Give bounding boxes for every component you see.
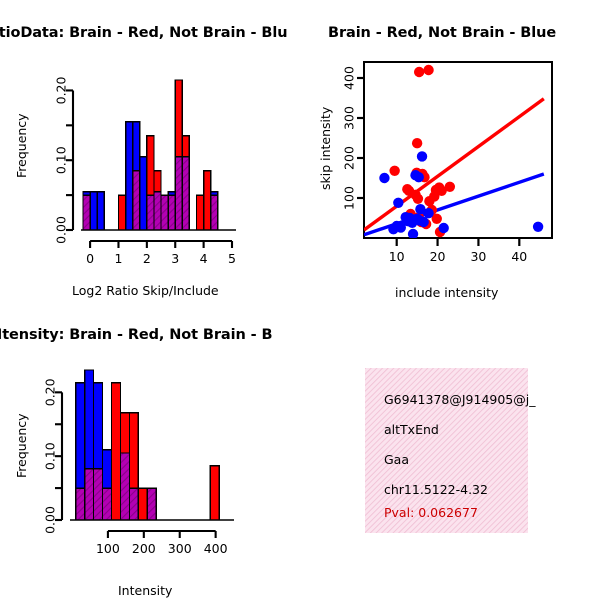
svg-text:3: 3 xyxy=(171,251,179,266)
svg-text:300: 300 xyxy=(341,106,356,130)
infobox-line-event-type: altTxEnd xyxy=(384,422,439,437)
svg-text:10: 10 xyxy=(389,249,405,264)
svg-text:0: 0 xyxy=(86,251,94,266)
svg-text:5: 5 xyxy=(228,251,236,266)
svg-text:20: 20 xyxy=(430,249,446,264)
svg-text:2: 2 xyxy=(143,251,151,266)
svg-text:1: 1 xyxy=(114,251,122,266)
svg-text:30: 30 xyxy=(470,249,486,264)
panel-intensity-histogram: ne Itensity: Brain - Red, Not Brain - B … xyxy=(0,300,300,600)
svg-text:200: 200 xyxy=(341,146,356,170)
svg-text:40: 40 xyxy=(511,249,527,264)
svg-text:0.00: 0.00 xyxy=(53,216,68,244)
scatter-plot: 10020030040010203040 xyxy=(300,0,600,300)
svg-text:0.20: 0.20 xyxy=(42,378,57,406)
svg-text:300: 300 xyxy=(168,541,192,556)
panel-scatter: Brain - Red, Not Brain - Blue skip inten… xyxy=(300,0,600,300)
ratio-histogram-plot: 0.000.100.20012345 xyxy=(0,0,300,300)
infobox-line-pvalue: Pval: 0.062677 xyxy=(384,505,478,520)
svg-text:0.20: 0.20 xyxy=(53,76,68,104)
infobox-line-gene-symbol: Gaa xyxy=(384,452,409,467)
infobox-line-gene-id: G6941378@J914905@j_ xyxy=(384,392,535,407)
svg-text:400: 400 xyxy=(204,541,228,556)
svg-text:400: 400 xyxy=(341,66,356,90)
svg-text:0.10: 0.10 xyxy=(42,442,57,470)
svg-text:100: 100 xyxy=(96,541,120,556)
intensity-histogram-plot: 0.000.100.20100200300400 xyxy=(0,300,300,600)
panel-infobox: G6941378@J914905@j_ altTxEnd Gaa chr11.5… xyxy=(300,300,600,600)
svg-text:0.10: 0.10 xyxy=(53,146,68,174)
svg-text:100: 100 xyxy=(341,186,356,210)
svg-text:0.00: 0.00 xyxy=(42,506,57,534)
infobox-line-location: chr11.5122-4.32 xyxy=(384,482,488,497)
panel-ratio-histogram: RatioData: Brain - Red, Not Brain - Blu … xyxy=(0,0,300,300)
svg-text:200: 200 xyxy=(132,541,156,556)
svg-text:4: 4 xyxy=(200,251,208,266)
